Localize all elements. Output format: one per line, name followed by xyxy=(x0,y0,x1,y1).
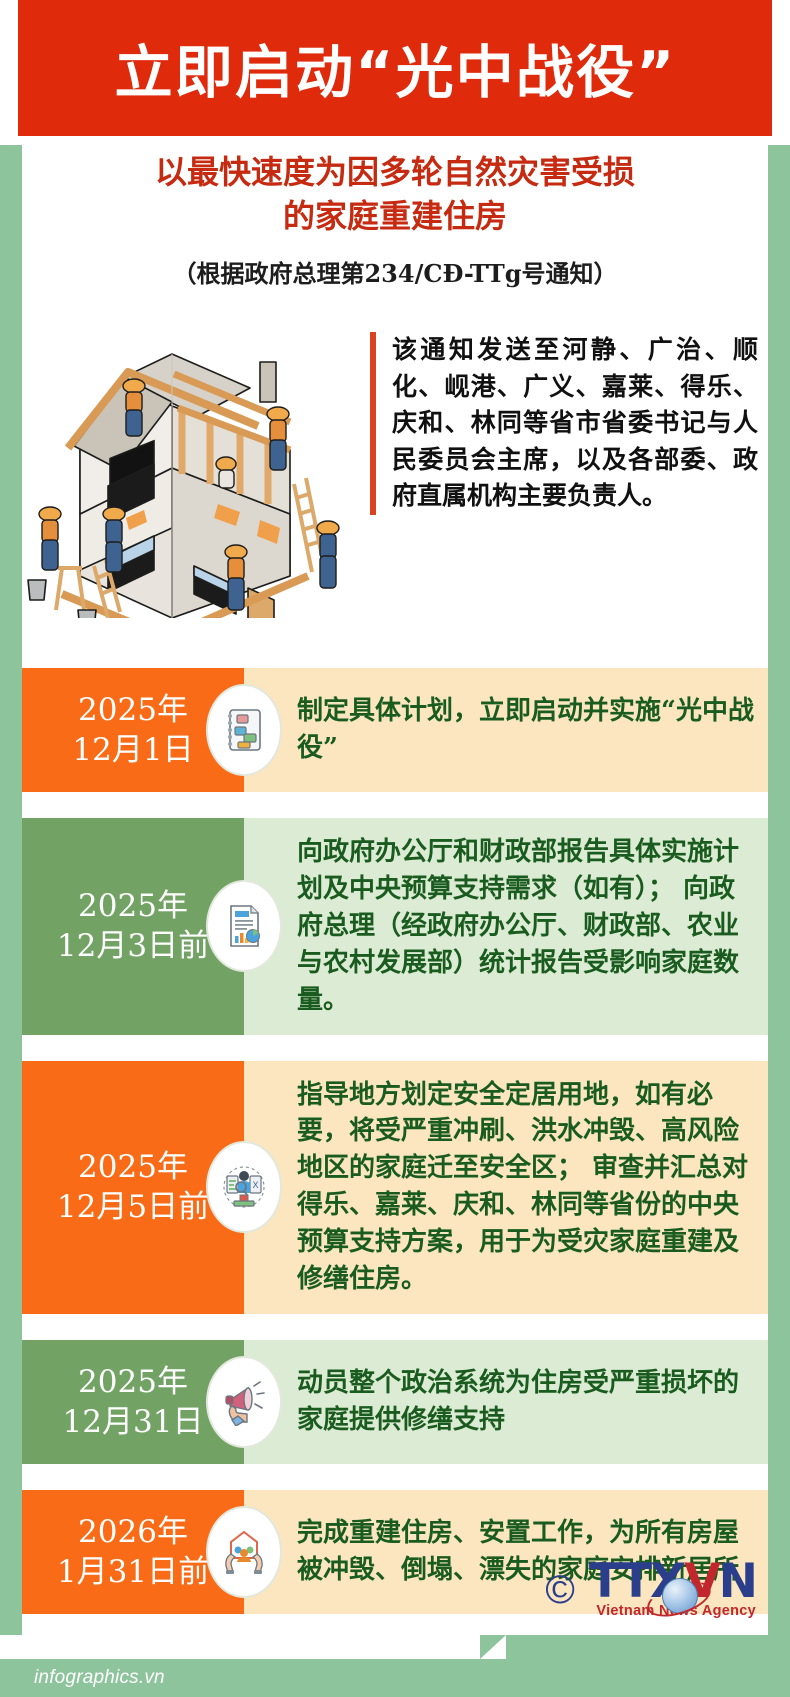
timeline-body: 制定具体计划，立即启动并实施“光中战役” xyxy=(244,668,768,792)
timeline-date-line-1: 2025年 xyxy=(78,886,188,926)
timeline-row[interactable]: 2025年 12月3日前 xyxy=(22,818,768,1035)
timeline-list: 2025年 12月1日 制定 xyxy=(22,668,768,1640)
timeline-text: 动员整个政治系统为住房受严重损坏的家庭提供修缮支持 xyxy=(283,1365,754,1439)
timeline-body: X 指导地方划定安全定居用地，如有必要，将受严重冲刷、洪水冲毁、高风险地区的家庭… xyxy=(244,1061,768,1314)
timeline-row[interactable]: 2025年 12月5日前 X xyxy=(22,1061,768,1314)
frame-left-border xyxy=(0,145,22,1635)
subtitle-source-note: （根据政府总理第234/CĐ-TTg号通知） xyxy=(22,254,768,289)
copyright-icon: © xyxy=(545,1570,574,1610)
clipboard-checklist-icon xyxy=(206,684,282,776)
timeline-body: 动员整个政治系统为住房受严重损坏的家庭提供修缮支持 xyxy=(244,1340,768,1464)
house-in-hands-icon xyxy=(206,1506,282,1598)
inspector-survey-icon: X xyxy=(206,1141,282,1233)
svg-text:X: X xyxy=(252,1180,258,1190)
subtitle-block: 以最快速度为因多轮自然灾害受损 的家庭重建住房 （根据政府总理第234/CĐ-T… xyxy=(22,150,768,289)
site-url-label: infographics.vn xyxy=(34,1667,165,1689)
house-construction-illustration xyxy=(22,318,352,618)
intro-note: 该通知发送至河静、广治、顺化、岘港、广义、嘉莱、得乐、庆和、林同等省市省委书记与… xyxy=(370,332,758,515)
subtitle-line-2: 的家庭重建住房 xyxy=(22,194,768,238)
timeline-text: 指导地方划定安全定居用地，如有必要，将受严重冲刷、洪水冲毁、高风险地区的家庭迁至… xyxy=(283,1077,754,1298)
timeline-body: 向政府办公厅和财政部报告具体实施计划及中央预算支持需求（如有）； 向政府总理（经… xyxy=(244,818,768,1035)
timeline-row[interactable]: 2025年 12月1日 制定 xyxy=(22,668,768,792)
timeline-date-line-1: 2026年 xyxy=(78,1512,188,1552)
intro-note-text: 该通知发送至河静、广治、顺化、岘港、广义、嘉莱、得乐、庆和、林同等省市省委书记与… xyxy=(392,332,758,515)
timeline-date-line-2: 12月3日前 xyxy=(57,926,209,966)
timeline-date-line-2: 12月1日 xyxy=(72,730,193,770)
timeline-icon-slot xyxy=(205,1356,283,1448)
intro-section: 该通知发送至河静、广治、顺化、岘港、广义、嘉莱、得乐、庆和、林同等省市省委书记与… xyxy=(22,318,768,618)
timeline-date-line-2: 12月5日前 xyxy=(57,1187,209,1227)
timeline-text: 向政府办公厅和财政部报告具体实施计划及中央预算支持需求（如有）； 向政府总理（经… xyxy=(283,834,754,1019)
timeline-icon-slot xyxy=(205,684,283,776)
timeline-row[interactable]: 2025年 12月31日 xyxy=(22,1340,768,1464)
footer-band-notch xyxy=(0,1635,480,1659)
megaphone-icon xyxy=(206,1356,282,1448)
footer-logo-area: © TTXVN Vietnam News Agency xyxy=(545,1560,756,1619)
logo-n: N xyxy=(719,1554,756,1609)
page-title: 立即启动“光中战役” xyxy=(114,27,676,109)
frame-right-border xyxy=(768,145,790,1635)
timeline-date-line-1: 2025年 xyxy=(78,690,188,730)
subtitle-line-1: 以最快速度为因多轮自然灾害受损 xyxy=(22,150,768,194)
ttxvn-logo: TTXVN Vietnam News Agency xyxy=(589,1560,756,1619)
header-banner: 立即启动“光中战役” xyxy=(18,0,772,136)
infographic-page: 立即启动“光中战役” 以最快速度为因多轮自然灾害受损 的家庭重建住房 （根据政府… xyxy=(0,0,790,1697)
timeline-date-line-2: 12月31日 xyxy=(63,1402,204,1442)
report-chart-document-icon xyxy=(206,880,282,972)
timeline-icon-slot xyxy=(205,880,283,972)
timeline-date-line-1: 2025年 xyxy=(78,1147,188,1187)
timeline-icon-slot xyxy=(205,1506,283,1598)
timeline-icon-slot: X xyxy=(205,1141,283,1233)
timeline-date-line-1: 2025年 xyxy=(78,1362,188,1402)
timeline-date-line-2: 1月31日前 xyxy=(57,1552,209,1592)
timeline-text: 制定具体计划，立即启动并实施“光中战役” xyxy=(283,693,754,767)
